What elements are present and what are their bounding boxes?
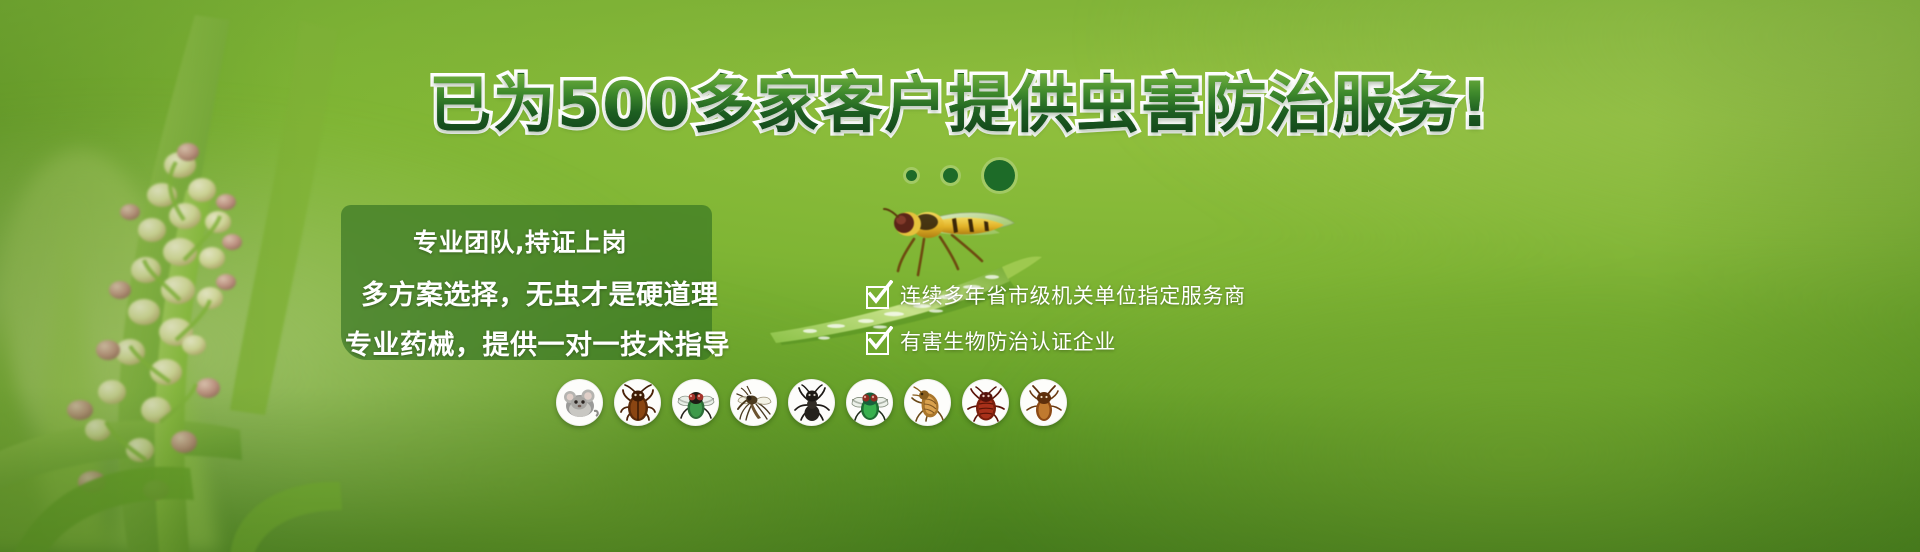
checklist-item-label: 连续多年省市级机关单位指定服务商 bbox=[900, 280, 1246, 310]
promo-banner: 已为500多家客户提供虫害防治服务! 已为500多家客户提供虫害防治服务! 专业… bbox=[0, 0, 1920, 552]
checklist-item-label: 有害生物防治认证企业 bbox=[900, 326, 1116, 356]
checkbox-checked-icon bbox=[866, 284, 889, 307]
pest-icon-row bbox=[556, 379, 1067, 426]
checklist-item: 连续多年省市级机关单位指定服务商 bbox=[866, 272, 1246, 318]
slogan-line-1: 专业团队,持证上岗 bbox=[413, 223, 627, 259]
checkbox-checked-icon bbox=[866, 330, 889, 353]
banner-headline-outline: 已为500多家客户提供虫害防治服务! bbox=[0, 74, 1920, 136]
pest-icon-mouse[interactable] bbox=[556, 379, 603, 426]
pest-icon-termite[interactable] bbox=[1020, 379, 1067, 426]
pest-icon-mosquito[interactable] bbox=[730, 379, 777, 426]
dot-small-icon bbox=[906, 170, 917, 181]
credentials-checklist: 连续多年省市级机关单位指定服务商 有害生物防治认证企业 bbox=[866, 272, 1246, 364]
pest-icon-flea[interactable] bbox=[904, 379, 951, 426]
slogan-line-3: 专业药械，提供一对一技术指导 bbox=[345, 323, 730, 362]
slogan-line-2: 多方案选择，无虫才是硬道理 bbox=[361, 273, 719, 312]
pest-icon-fly[interactable] bbox=[672, 379, 719, 426]
pest-icon-ant[interactable] bbox=[788, 379, 835, 426]
pest-icon-cockroach[interactable] bbox=[614, 379, 661, 426]
dot-medium-icon bbox=[943, 168, 958, 183]
pest-icon-bedbug[interactable] bbox=[962, 379, 1009, 426]
decorative-dots bbox=[0, 160, 1920, 191]
pest-icon-greenfly[interactable] bbox=[846, 379, 893, 426]
checklist-item: 有害生物防治认证企业 bbox=[866, 318, 1246, 364]
slogan-text-group: 专业团队,持证上岗 多方案选择，无虫才是硬道理 专业药械，提供一对一技术指导 bbox=[341, 205, 901, 405]
dot-large-icon bbox=[984, 160, 1015, 191]
